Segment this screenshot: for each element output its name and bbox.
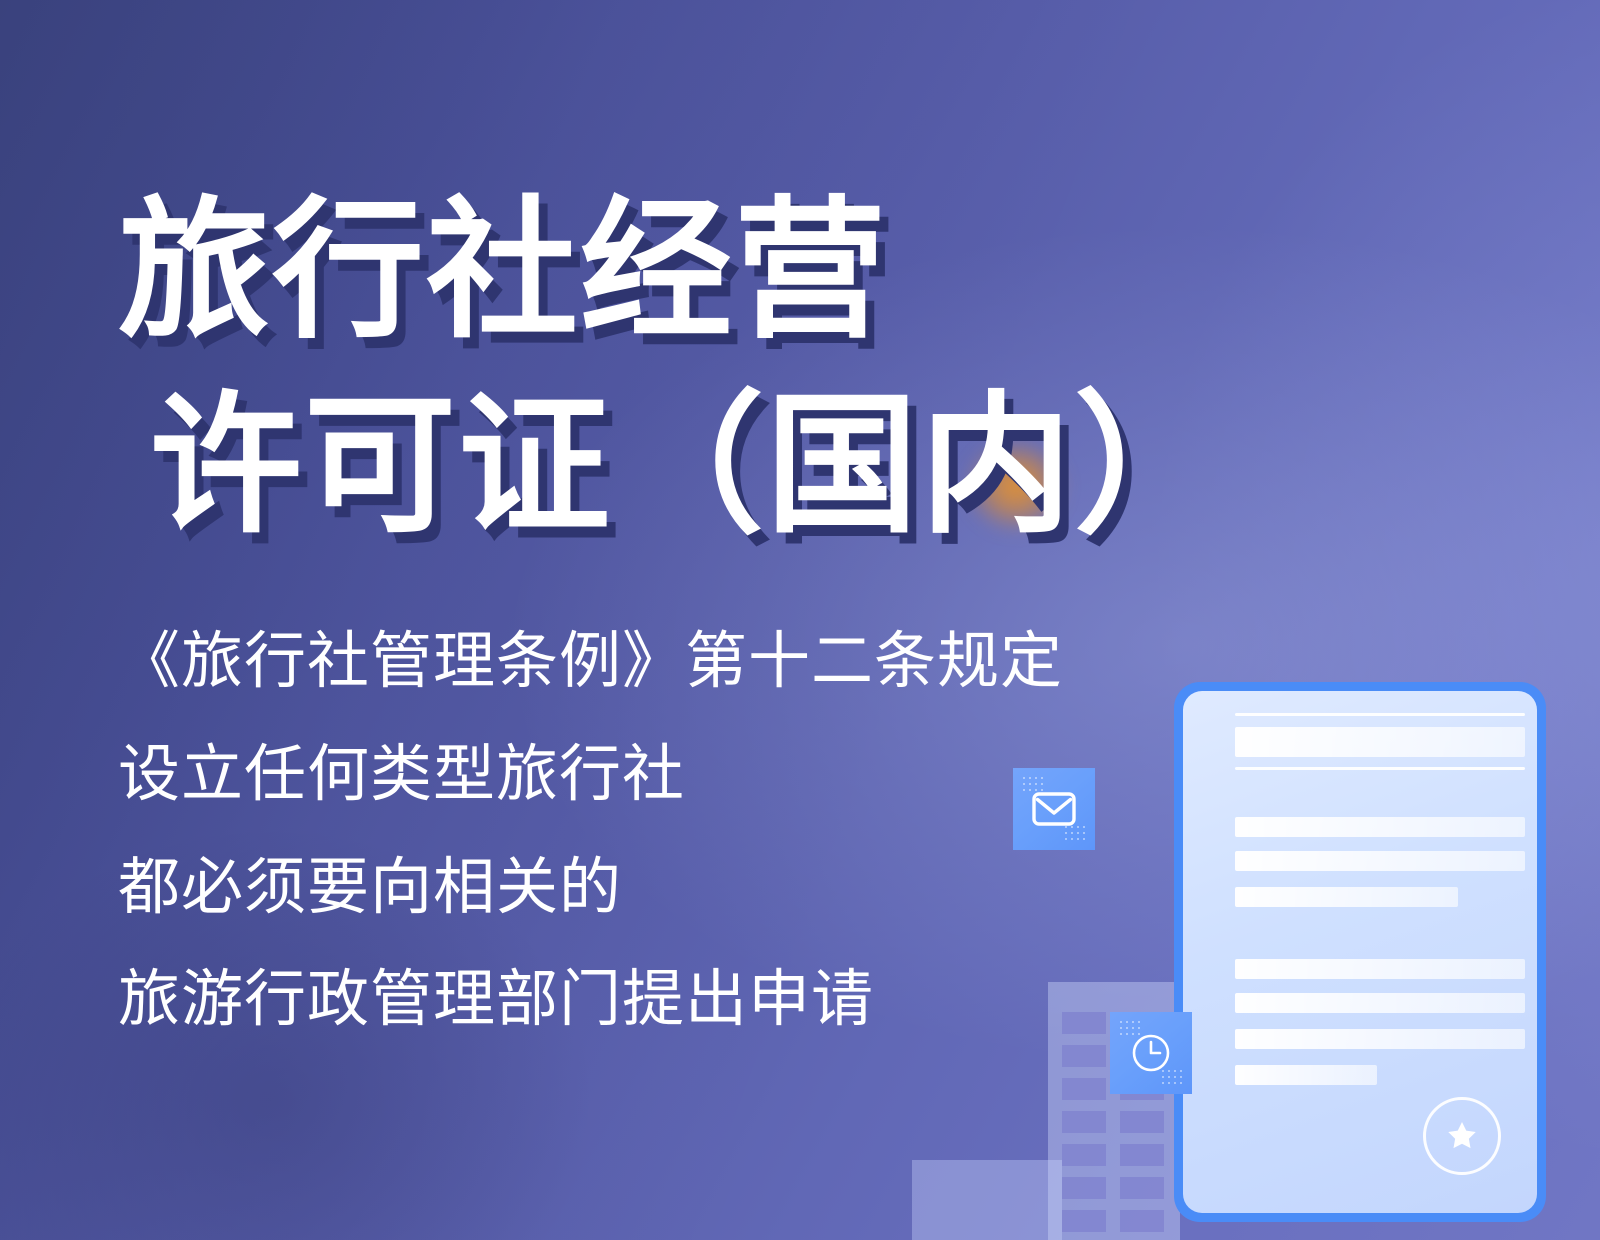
body-line-2: 设立任何类型旅行社 [118, 719, 1198, 832]
body-line-1: 《旅行社管理条例》第十二条规定 [118, 606, 1198, 719]
document-text-line [1235, 993, 1525, 1013]
document-text-line [1235, 1029, 1525, 1049]
building-window [1062, 1111, 1106, 1133]
building-window [1120, 1177, 1164, 1199]
certificate-paper [1183, 691, 1537, 1213]
document-text-line [1235, 767, 1525, 770]
building-window [1120, 1210, 1164, 1232]
document-text-line [1235, 713, 1525, 716]
headline-line-1: 旅行社经营 [118, 174, 1238, 369]
headline-line-2: 许可证（国内） [150, 369, 1238, 564]
building-window [1062, 1078, 1106, 1100]
document-text-line [1235, 817, 1525, 837]
building-window [1062, 1177, 1106, 1199]
document-text-line [1235, 1065, 1377, 1085]
certificate-document [1174, 682, 1546, 1222]
body-line-4: 旅游行政管理部门提出申请 [118, 944, 1198, 1057]
building-window [1062, 1210, 1106, 1232]
building-window [1120, 1144, 1164, 1166]
building-window [1062, 1144, 1106, 1166]
building-window [1120, 1111, 1164, 1133]
body-line-3: 都必须要向相关的 [118, 832, 1198, 945]
document-text-line [1235, 959, 1525, 979]
document-text-line [1235, 727, 1525, 757]
document-text-line [1235, 887, 1458, 907]
poster-headline: 旅行社经营 许可证（国内） [118, 174, 1238, 563]
office-building-wing [912, 1160, 1062, 1240]
document-text-line [1235, 851, 1525, 871]
poster-canvas: 旅行社经营 许可证（国内） 《旅行社管理条例》第十二条规定 设立任何类型旅行社 … [0, 0, 1600, 1240]
star-icon [1448, 1122, 1476, 1148]
star-seal [1423, 1097, 1501, 1175]
poster-body-copy: 《旅行社管理条例》第十二条规定 设立任何类型旅行社 都必须要向相关的 旅游行政管… [118, 606, 1198, 1057]
